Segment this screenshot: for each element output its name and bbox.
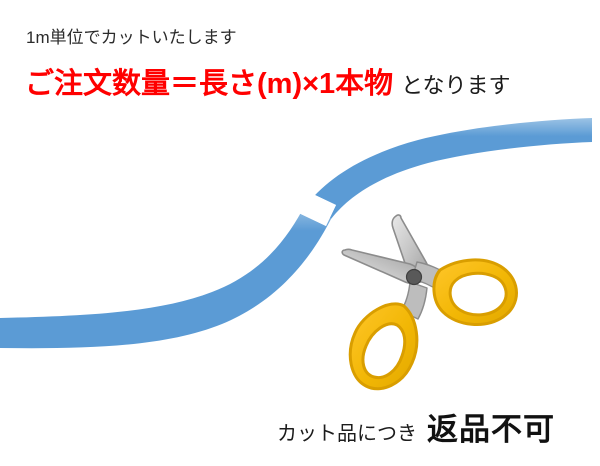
cut-unit-note: 1m単位でカットいたします — [26, 29, 237, 46]
scissors-illustration — [342, 215, 516, 389]
return-policy-lead: カット品につき — [277, 423, 417, 445]
cut-service-notice-graphic: 1m単位でカットいたします ご注文数量＝長さ(m)×1本物となります カット品に… — [0, 0, 600, 466]
blue-cable-right-segment — [307, 118, 592, 219]
return-policy-line: カット品につき返品不可 — [277, 414, 555, 445]
blue-cable-left-segment — [0, 205, 331, 348]
order-formula-line: ご注文数量＝長さ(m)×1本物となります — [25, 70, 511, 99]
order-formula-tail: となります — [401, 73, 510, 98]
order-formula-emphasis: ご注文数量＝長さ(m)×1本物 — [25, 68, 393, 100]
return-policy-emphasis: 返品不可 — [427, 412, 555, 447]
scissors-handle-right — [434, 260, 517, 325]
scissors-handle-left — [350, 304, 417, 389]
scissors-pivot-icon — [407, 270, 422, 285]
